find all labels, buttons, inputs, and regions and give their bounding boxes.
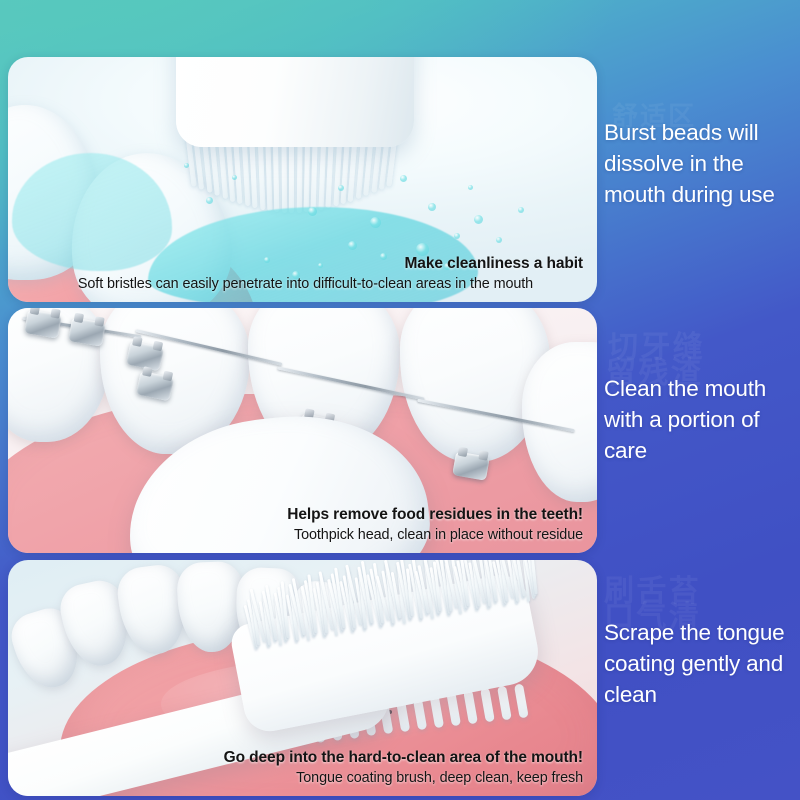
watermark-text: 刷舌苔 <box>604 566 701 610</box>
caption-title: Helps remove food residues in the teeth! <box>23 505 583 526</box>
caption-title: Make cleanliness a habit <box>28 254 583 275</box>
caption-subtitle: Tongue coating brush, deep clean, keep f… <box>23 769 583 788</box>
panel-1-caption: Make cleanliness a habit Soft bristles c… <box>28 254 583 294</box>
side-text-scrape-tongue: Scrape the tongue coating gently and cle… <box>604 618 800 710</box>
caption-title: Go deep into the hard-to-clean area of t… <box>23 748 583 769</box>
feature-panel-brushing: Make cleanliness a habit Soft bristles c… <box>8 57 597 302</box>
side-text-burst-beads: Burst beads will dissolve in the mouth d… <box>604 118 800 210</box>
caption-subtitle: Soft bristles can easily penetrate into … <box>28 275 583 294</box>
panel-2-caption: Helps remove food residues in the teeth!… <box>23 505 583 545</box>
infographic-stage: 舒适区 切牙缝 留残渣 刷舌苔 口气清 Make cleanliness a h… <box>0 0 800 800</box>
caption-subtitle: Toothpick head, clean in place without r… <box>23 526 583 545</box>
panel-3-caption: Go deep into the hard-to-clean area of t… <box>23 748 583 788</box>
feature-panel-toothpick: Helps remove food residues in the teeth!… <box>8 308 597 553</box>
feature-panel-tongue-brush: Go deep into the hard-to-clean area of t… <box>8 560 597 796</box>
side-text-clean-mouth: Clean the mouth with a portion of care <box>604 374 800 466</box>
brush-head-body <box>176 57 414 147</box>
watermark-text: 切牙缝 <box>608 322 705 366</box>
